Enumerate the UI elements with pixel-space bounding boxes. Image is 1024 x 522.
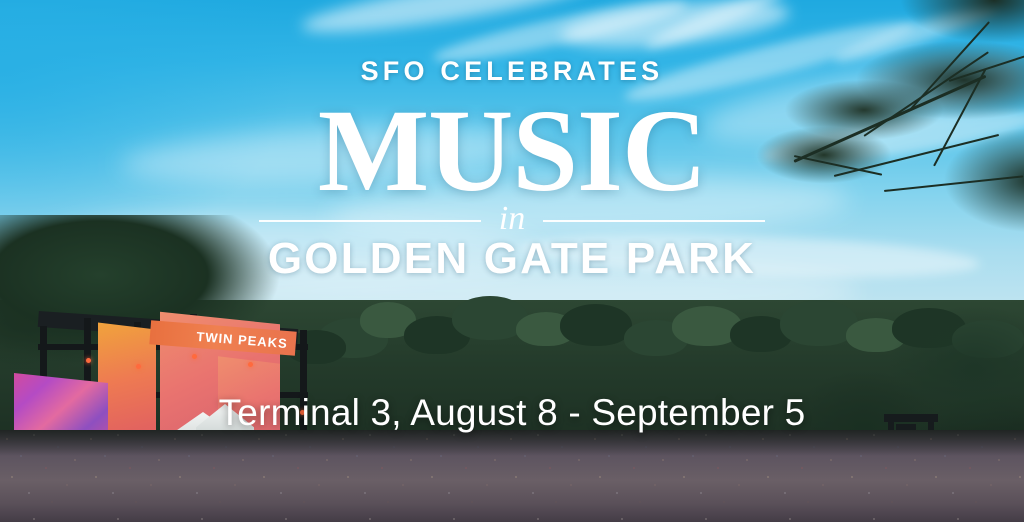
sfo-music-banner: TWIN PEAKS SFO CELEBRATES MUSIC in GOLDE… (0, 0, 1024, 522)
connector-row: in (0, 204, 1024, 238)
divider-right (543, 220, 765, 222)
eyebrow-text: SFO CELEBRATES (0, 56, 1024, 87)
text-overlay: SFO CELEBRATES MUSIC in GOLDEN GATE PARK… (0, 0, 1024, 522)
page-title: MUSIC (0, 92, 1024, 210)
divider-left (259, 220, 481, 222)
dates-text: Terminal 3, August 8 - September 5 (0, 392, 1024, 434)
connector-word: in (499, 202, 525, 236)
subtitle-text: GOLDEN GATE PARK (0, 234, 1024, 284)
